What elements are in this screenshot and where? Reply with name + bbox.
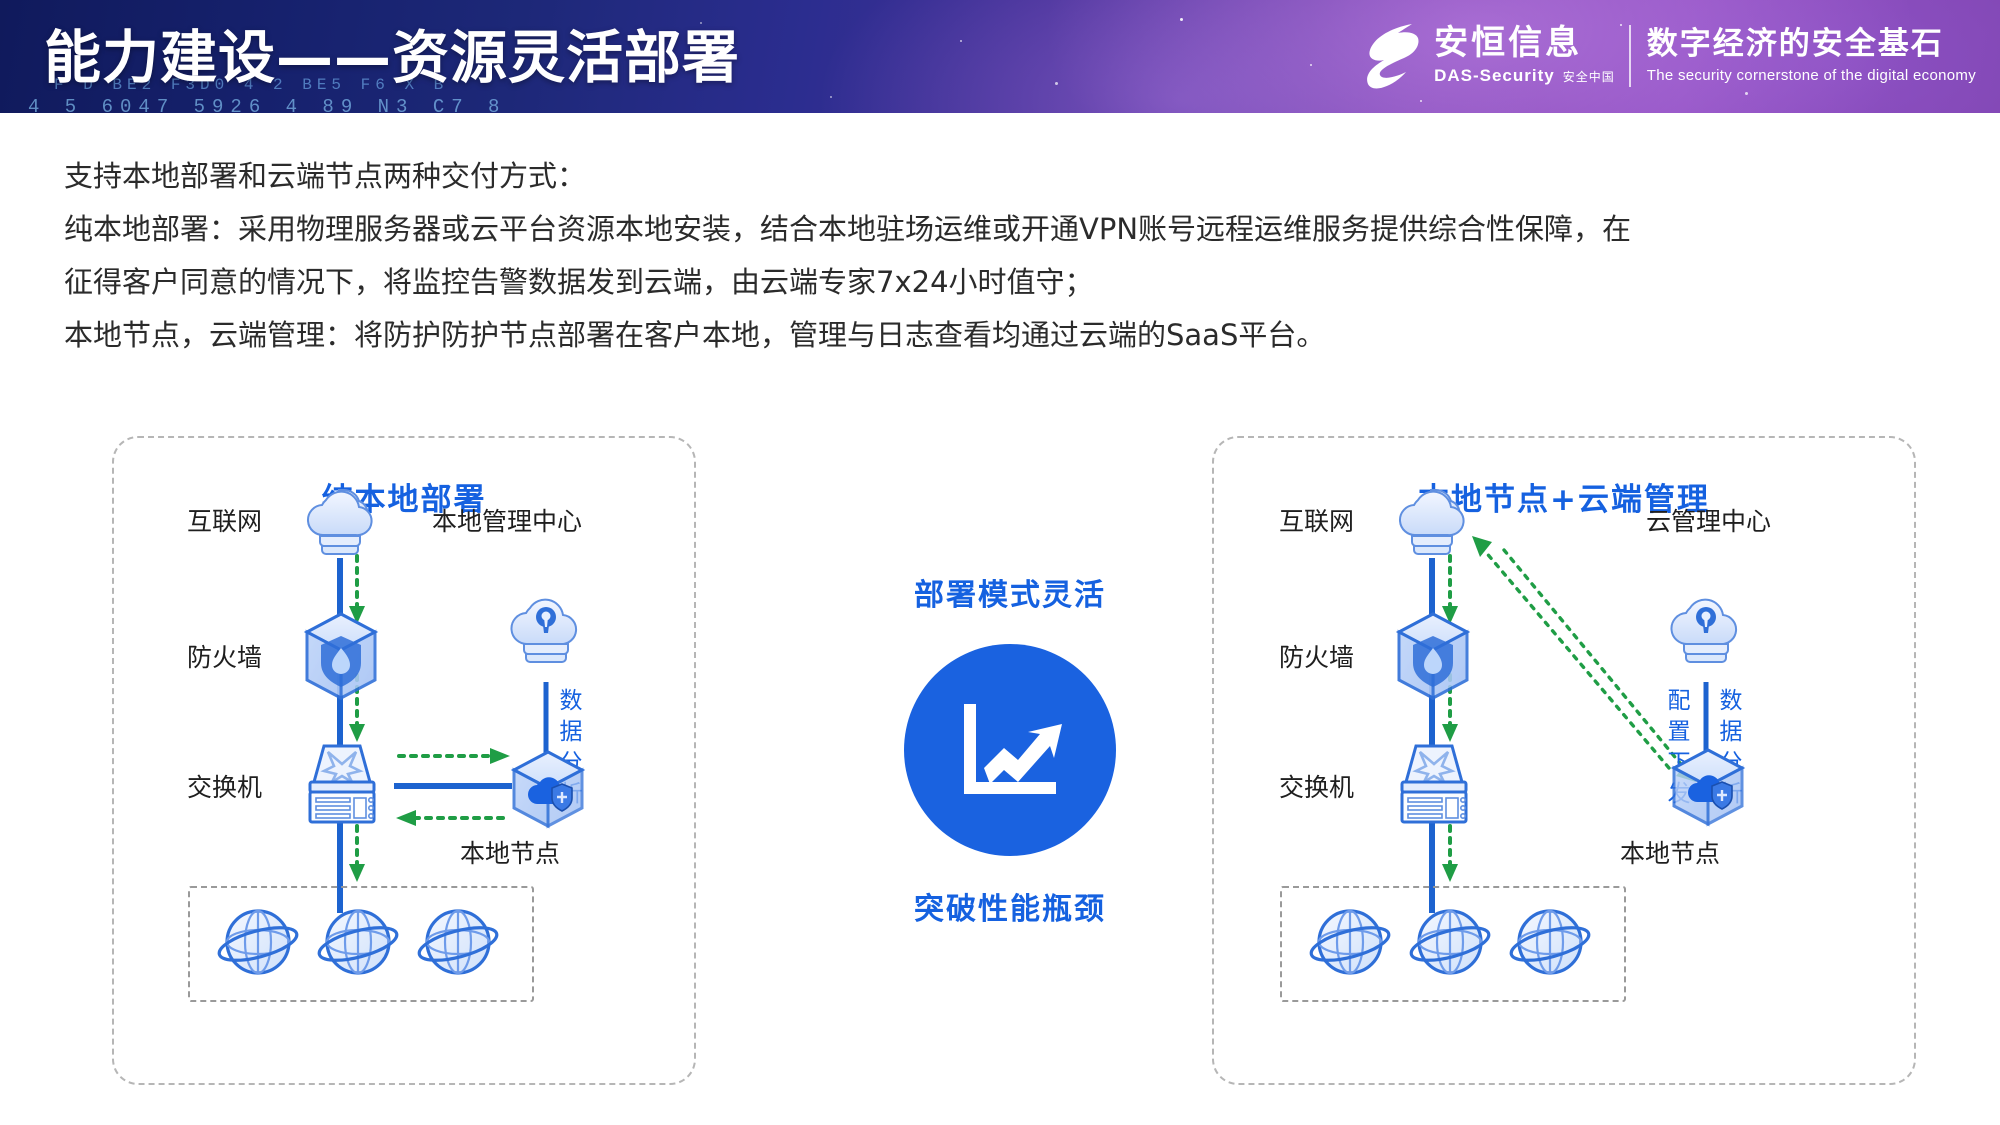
brand-name-en-cn: 安全中国 [1563,68,1615,85]
panel-local-node-cloud-managed: 本地节点+云端管理 互联网 云管理中心 配置下发 数据分析 [1212,436,1916,1085]
cloud-icon [300,480,384,558]
brand-name-en: DAS-Security [1434,66,1555,86]
label-local-node: 本地节点 [460,834,560,870]
star-decor [1310,64,1312,66]
cloud-lock-icon [1666,590,1746,668]
firewall-cube-icon [299,608,383,704]
brand-divider [1629,25,1631,87]
center-circle [904,644,1116,856]
globe-icon [314,898,402,986]
label-internet: 互联网 [1279,502,1354,538]
globe-icon [414,898,502,986]
brand-name-cn: 安恒信息 [1434,26,1615,60]
globe-icon [1406,898,1494,986]
brand-slogan-cn: 数字经济的安全基石 [1647,29,1976,60]
firewall-cube-icon [1391,608,1475,704]
globe-icon [1506,898,1594,986]
label-switch: 交换机 [187,768,262,804]
body-paragraph: 支持本地部署和云端节点两种交付方式： 纯本地部署：采用物理服务器或云平台资源本地… [64,150,1944,362]
growth-chart-icon [954,698,1066,802]
switch-icon [1386,738,1482,830]
star-decor [1420,100,1422,102]
globe-icon [1306,898,1394,986]
body-line-2: 纯本地部署：采用物理服务器或云平台资源本地安装，结合本地驻场运维或开通VPN账号… [64,203,1944,256]
node-cube-icon [510,748,586,830]
cloud-icon [1392,480,1476,558]
slide-header: F D BE2 F3D0 4 2 BE5 F6 X B 4 5 6047 592… [0,0,2000,113]
center-highlight: 部署模式灵活 突破性能瓶颈 [870,570,1150,928]
star-decor [830,96,832,98]
globe-icon [214,898,302,986]
hex-overlay-row: 4 5 6047 5926 4 89 N3 C7 8 [28,96,506,113]
label-internet: 互联网 [187,502,262,538]
center-caption-bottom: 突破性能瓶颈 [870,884,1150,928]
label-mgmt-center: 本地管理中心 [432,502,582,538]
das-swoosh-logo-icon [1360,20,1424,92]
body-line-1: 支持本地部署和云端节点两种交付方式： [64,150,1944,203]
brand-lockup: 安恒信息 DAS-Security 安全中国 数字经济的安全基石 The sec… [1360,16,1976,96]
body-line-4: 本地节点，云端管理：将防护防护节点部署在客户本地，管理与日志查看均通过云端的Sa… [64,309,1944,362]
switch-icon [294,738,390,830]
label-firewall: 防火墙 [187,638,262,674]
label-switch: 交换机 [1279,768,1354,804]
label-local-node: 本地节点 [1620,834,1720,870]
star-decor [1055,82,1058,85]
body-line-3: 征得客户同意的情况下，将监控告警数据发到云端，由云端专家7x24小时值守； [64,256,1944,309]
star-decor [1180,18,1183,21]
brand-slogan-en: The security cornerstone of the digital … [1647,67,1976,84]
star-decor [960,40,962,42]
node-cube-icon [1670,746,1746,828]
cloud-lock-icon [506,590,586,668]
center-caption-top: 部署模式灵活 [870,570,1150,614]
page-title: 能力建设——资源灵活部署 [44,12,740,94]
panel-pure-local-deployment: 纯本地部署 互联网 本地管理中心 [112,436,696,1085]
label-firewall: 防火墙 [1279,638,1354,674]
label-mgmt-center: 云管理中心 [1646,502,1771,538]
